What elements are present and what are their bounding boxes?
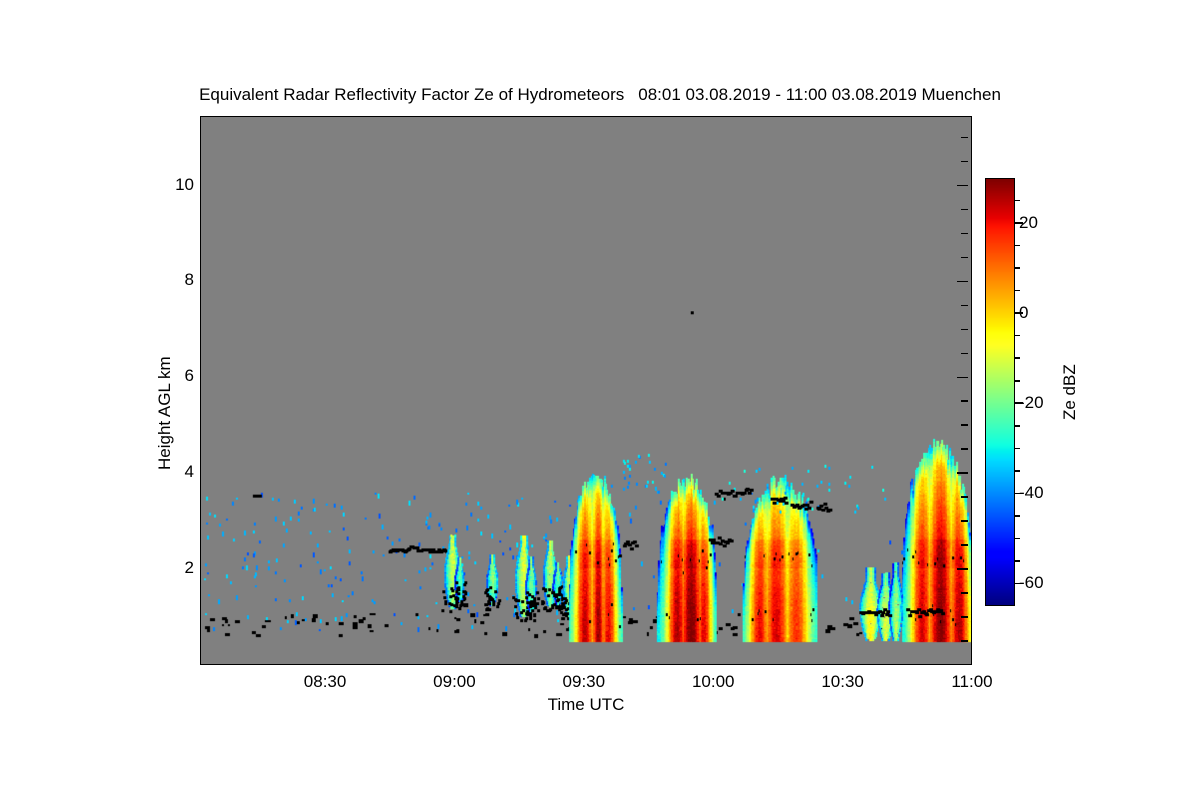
- x-tick: [0, 233, 2, 240]
- x-tick: [0, 325, 2, 336]
- x-tick-top: [0, 414, 2, 425]
- x-tick-top: [0, 56, 2, 63]
- x-tick-top: [0, 304, 2, 311]
- x-tick-top: [0, 368, 2, 375]
- colorbar-tick-label: -20: [1019, 393, 1044, 413]
- x-tick: [0, 155, 2, 162]
- x-tick-label: 10:30: [821, 672, 864, 692]
- y-axis-title: Height AGL km: [155, 356, 175, 470]
- x-tick: [0, 297, 2, 304]
- colorbar-tick: [1015, 470, 1020, 472]
- colorbar-tick: [1015, 538, 1020, 540]
- x-tick-top: [0, 258, 2, 269]
- colorbar-tick: [1015, 448, 1020, 450]
- y-tick-right: [961, 520, 968, 522]
- y-tick-right: [961, 640, 968, 642]
- colorbar-tick: [1015, 380, 1020, 382]
- x-tick: [0, 63, 2, 70]
- colorbar-tick: [1015, 515, 1020, 517]
- x-tick-label: 11:00: [951, 672, 992, 692]
- y-tick-right: [961, 544, 968, 546]
- x-tick: [0, 467, 2, 474]
- x-tick-top: [0, 134, 2, 141]
- colorbar-tick-label: -60: [1019, 573, 1044, 593]
- colorbar-tick: [1015, 335, 1020, 337]
- x-tick-top: [0, 240, 2, 247]
- y-tick-right: [957, 377, 968, 379]
- radar-heatmap-canvas: [201, 117, 971, 664]
- x-tick: [0, 269, 2, 276]
- x-tick-label: 09:00: [433, 672, 476, 692]
- colorbar-tick: [1015, 267, 1020, 269]
- x-tick: [0, 219, 2, 226]
- x-tick: [0, 49, 2, 56]
- y-tick-right: [961, 616, 968, 618]
- x-tick: [0, 141, 2, 148]
- colorbar: [985, 178, 1015, 606]
- x-tick: [0, 439, 2, 446]
- y-tick-right: [961, 448, 968, 450]
- x-tick-top: [0, 492, 2, 503]
- y-tick-right: [957, 281, 968, 283]
- y-tick-right: [961, 353, 968, 355]
- x-tick-top: [0, 460, 2, 467]
- x-tick-top: [0, 212, 2, 219]
- colorbar-tick: [1015, 200, 1020, 202]
- x-tick: [0, 403, 2, 414]
- x-tick: [0, 127, 2, 134]
- x-tick: [0, 375, 2, 382]
- y-tick-right: [961, 161, 968, 163]
- colorbar-tick: [1015, 245, 1020, 247]
- x-tick: [0, 425, 2, 432]
- colorbar-tick-label: 0: [1019, 303, 1028, 323]
- x-tick-top: [0, 396, 2, 403]
- x-tick-top: [0, 382, 2, 389]
- y-tick-right: [961, 137, 968, 139]
- x-tick-top: [0, 42, 2, 49]
- x-tick-top: [0, 180, 2, 191]
- x-tick: [0, 311, 2, 318]
- x-tick: [0, 113, 2, 120]
- x-tick-top: [0, 198, 2, 205]
- colorbar-tick-label: -40: [1019, 483, 1044, 503]
- x-tick: [0, 247, 2, 258]
- x-tick-top: [0, 70, 2, 77]
- x-tick: [0, 169, 2, 180]
- page-title: Equivalent Radar Reflectivity Factor Ze …: [0, 85, 1200, 105]
- x-axis-title: Time UTC: [200, 695, 972, 715]
- x-tick-top: [0, 148, 2, 155]
- y-tick-right: [961, 400, 968, 402]
- x-tick-label: 10:00: [692, 672, 735, 692]
- x-tick: [0, 361, 2, 368]
- x-tick-top: [0, 318, 2, 325]
- x-tick-top: [0, 290, 2, 297]
- x-tick: [0, 453, 2, 460]
- x-tick: [0, 283, 2, 290]
- radar-reflectivity-figure: Equivalent Radar Reflectivity Factor Ze …: [0, 0, 1200, 800]
- x-tick: [0, 347, 2, 354]
- x-tick-top: [0, 446, 2, 453]
- x-tick-top: [0, 226, 2, 233]
- y-tick-right: [961, 424, 968, 426]
- x-tick-label: 09:30: [563, 672, 606, 692]
- x-tick-top: [0, 276, 2, 283]
- x-tick-top: [0, 474, 2, 481]
- colorbar-tick-label: 20: [1019, 213, 1038, 233]
- title-period-text: 08:01 03.08.2019 - 11:00 03.08.2019 Muen…: [638, 85, 1001, 104]
- x-tick-label: 08:30: [304, 672, 347, 692]
- y-tick-right: [957, 185, 968, 187]
- x-tick: [0, 35, 2, 42]
- y-tick-right: [957, 568, 968, 570]
- colorbar-gradient: [986, 179, 1014, 605]
- title-main-text: Equivalent Radar Reflectivity Factor Ze …: [199, 85, 624, 104]
- x-tick: [0, 481, 2, 492]
- y-tick-right: [961, 233, 968, 235]
- y-tick-right: [957, 472, 968, 474]
- colorbar-tick: [1015, 560, 1020, 562]
- x-tick-top: [0, 162, 2, 169]
- colorbar-tick: [1015, 357, 1020, 359]
- colorbar-title: Ze dBZ: [1060, 364, 1080, 420]
- x-tick-top: [0, 120, 2, 127]
- y-tick-right: [961, 496, 968, 498]
- x-tick: [0, 77, 2, 84]
- y-tick-right: [961, 305, 968, 307]
- plot-area: [200, 116, 972, 665]
- x-tick: [0, 191, 2, 198]
- x-tick: [0, 389, 2, 396]
- x-tick-top: [0, 336, 2, 347]
- colorbar-tick: [1015, 290, 1020, 292]
- y-tick-right: [961, 592, 968, 594]
- y-tick-right: [961, 209, 968, 211]
- colorbar-tick: [1015, 425, 1020, 427]
- y-tick-right: [961, 257, 968, 259]
- y-tick-right: [961, 329, 968, 331]
- x-tick-top: [0, 354, 2, 361]
- x-tick: [0, 205, 2, 212]
- x-tick-top: [0, 432, 2, 439]
